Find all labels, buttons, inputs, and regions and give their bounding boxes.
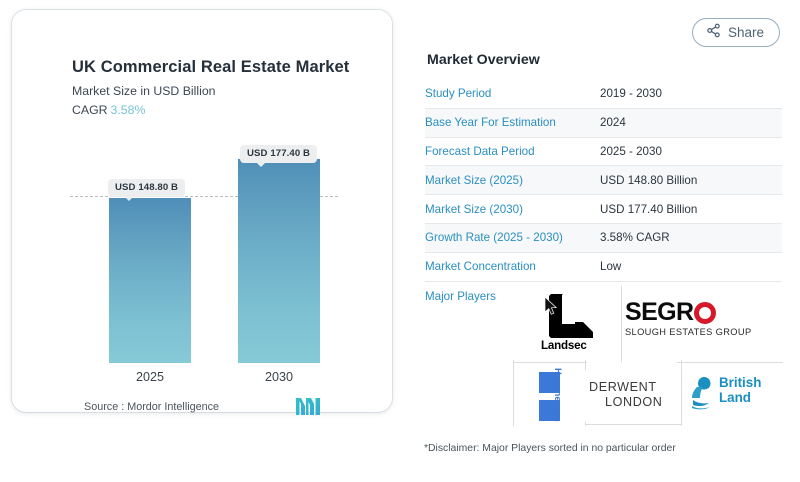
table-row: Growth Rate (2025 - 2030) 3.58% CAGR — [425, 224, 782, 253]
hammerson-wordmark: Hammerson — [553, 368, 563, 422]
bar-label-2030: USD 177.40 B — [240, 145, 317, 163]
row-key: Market Concentration — [425, 260, 600, 273]
x-axis-label-2025: 2025 — [109, 370, 191, 384]
derwent-line2: LONDON — [605, 395, 662, 409]
british-land-wordmark: British Land — [719, 376, 761, 405]
segro-o-ring-icon — [694, 302, 716, 324]
table-row: Base Year For Estimation 2024 — [425, 109, 782, 138]
british-land-line2: Land — [719, 390, 751, 405]
row-key: Study Period — [425, 87, 600, 100]
landsec-wordmark: Landsec — [541, 339, 587, 352]
table-row: Market Size (2025) USD 148.80 Billion — [425, 166, 782, 195]
table-row: Market Concentration Low — [425, 253, 782, 282]
row-value: USD 177.40 Billion — [600, 203, 697, 216]
segro-logo[interactable]: SEGR SLOUGH ESTATES GROUP — [625, 300, 775, 337]
grid-divider — [585, 424, 681, 425]
grid-divider — [621, 286, 622, 364]
landsec-logo[interactable]: Landsec — [527, 294, 613, 356]
share-nodes-icon — [706, 23, 721, 43]
segro-wordmark: SEGR — [625, 300, 775, 325]
row-value: 2025 - 2030 — [600, 145, 662, 158]
share-button-label: Share — [728, 25, 764, 40]
bar-2030[interactable] — [238, 159, 320, 363]
source-text: Source : Mordor Intelligence — [84, 401, 219, 413]
bar-2025[interactable] — [109, 198, 191, 363]
market-overview-table: Study Period 2019 - 2030 Base Year For E… — [425, 80, 782, 316]
british-land-logo[interactable]: British Land — [691, 376, 779, 416]
row-value: 3.58% CAGR — [600, 231, 670, 244]
row-value: USD 148.80 Billion — [600, 174, 697, 187]
grid-divider — [513, 360, 514, 426]
page-root: UK Commercial Real Estate Market Market … — [0, 0, 800, 482]
british-land-line1: British — [719, 375, 761, 390]
derwent-london-logo[interactable]: DERWENT LONDON — [587, 362, 677, 424]
row-value: Low — [600, 260, 621, 273]
row-key: Market Size (2025) — [425, 174, 600, 187]
row-key: Base Year For Estimation — [425, 116, 600, 129]
table-row: Market Size (2030) USD 177.40 Billion — [425, 195, 782, 224]
segro-tagline: SLOUGH ESTATES GROUP — [625, 327, 775, 337]
british-land-mark-icon — [691, 376, 717, 410]
disclaimer-text: *Disclaimer: Major Players sorted in no … — [424, 443, 676, 454]
row-key: Forecast Data Period — [425, 145, 600, 158]
chart-card: UK Commercial Real Estate Market Market … — [12, 10, 392, 412]
bar-chart-plot: USD 148.80 B USD 177.40 B 2025 2030 — [12, 10, 392, 412]
table-row: Study Period 2019 - 2030 — [425, 80, 782, 109]
grid-divider — [681, 360, 682, 426]
table-row: Forecast Data Period 2025 - 2030 — [425, 138, 782, 167]
row-value: 2024 — [600, 116, 626, 129]
share-button[interactable]: Share — [692, 18, 780, 47]
mouse-cursor — [545, 297, 558, 321]
derwent-line1: DERWENT — [589, 380, 657, 394]
market-overview-heading: Market Overview — [427, 52, 540, 68]
segro-text: SEGR — [625, 300, 693, 325]
row-key: Growth Rate (2025 - 2030) — [425, 231, 600, 244]
bar-label-2025: USD 148.80 B — [108, 179, 185, 197]
mordor-intelligence-logo — [296, 398, 320, 415]
row-value: 2019 - 2030 — [600, 87, 662, 100]
row-key: Market Size (2030) — [425, 203, 600, 216]
x-axis-label-2030: 2030 — [238, 370, 320, 384]
